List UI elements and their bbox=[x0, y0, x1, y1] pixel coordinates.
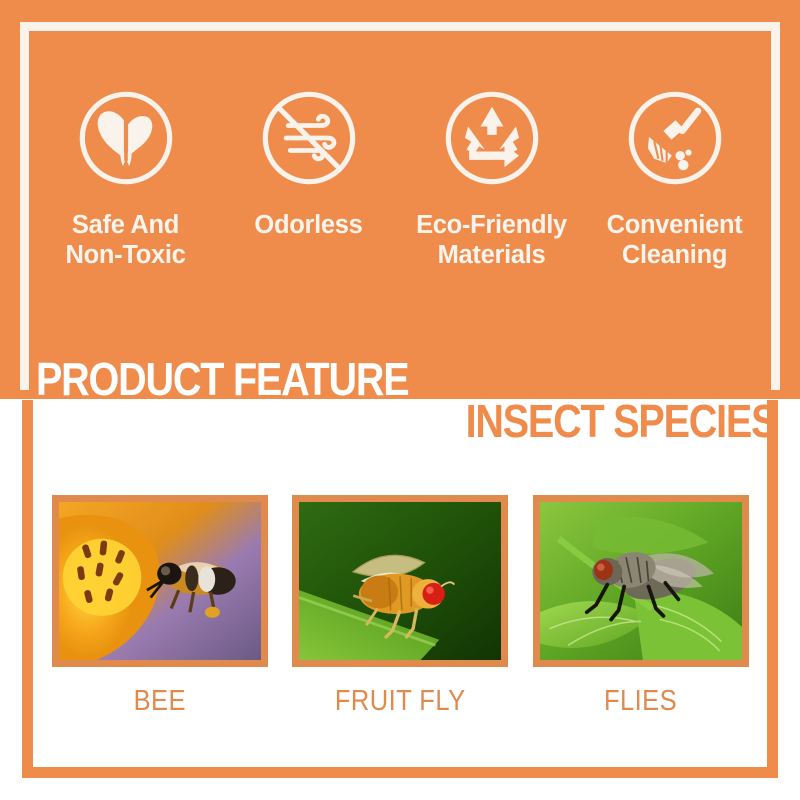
bee-photo bbox=[52, 495, 268, 667]
feature-label: Convenient Cleaning bbox=[607, 210, 743, 270]
fruit-fly-photo bbox=[292, 495, 508, 667]
species-item-fruit-fly[interactable]: FRUIT FLY bbox=[287, 495, 514, 718]
feature-label: Eco-Friendly Materials bbox=[416, 210, 567, 270]
feature-icon-row: Safe And Non-Toxic Odorless bbox=[34, 86, 766, 270]
feature-item-convenient-cleaning[interactable]: Convenient Cleaning bbox=[583, 86, 766, 270]
species-label: BEE bbox=[133, 685, 185, 718]
broom-icon bbox=[623, 86, 727, 190]
feature-label: Odorless bbox=[254, 210, 362, 240]
feature-item-eco-friendly[interactable]: Eco-Friendly Materials bbox=[400, 86, 583, 270]
species-label: FLIES bbox=[604, 685, 677, 718]
insect-species-panel: BEE bbox=[0, 399, 800, 800]
insect-species-heading: INSECT SPECIES bbox=[465, 394, 776, 448]
species-row: BEE bbox=[46, 495, 754, 718]
feature-item-odorless[interactable]: Odorless bbox=[217, 86, 400, 240]
product-feature-heading: PRODUCT FEATURE bbox=[36, 352, 408, 406]
flies-photo bbox=[533, 495, 749, 667]
no-odor-icon bbox=[257, 86, 361, 190]
product-infographic: Safe And Non-Toxic Odorless bbox=[0, 0, 800, 800]
recycle-icon bbox=[440, 86, 544, 190]
species-item-flies[interactable]: FLIES bbox=[527, 495, 754, 718]
feature-item-safe-non-toxic[interactable]: Safe And Non-Toxic bbox=[34, 86, 217, 270]
species-label: FRUIT FLY bbox=[335, 685, 466, 718]
product-feature-panel: Safe And Non-Toxic Odorless bbox=[0, 0, 800, 399]
butterfly-icon bbox=[74, 86, 178, 190]
species-item-bee[interactable]: BEE bbox=[46, 495, 273, 718]
feature-label: Safe And Non-Toxic bbox=[65, 210, 185, 270]
